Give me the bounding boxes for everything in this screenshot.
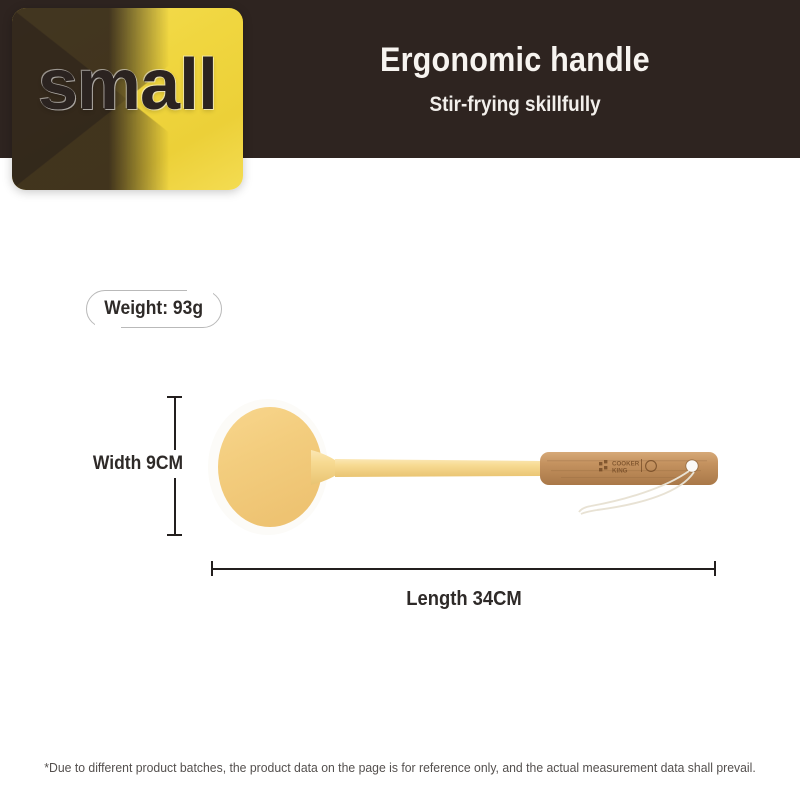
spatula-head bbox=[218, 407, 322, 527]
product-image: COOKER KING bbox=[195, 380, 735, 555]
product-spec-infographic: Ergonomic handle Stir-frying skillfully … bbox=[0, 0, 800, 800]
weight-badge: Weight: 93g bbox=[86, 290, 222, 328]
page-subtitle: Stir-frying skillfully bbox=[429, 93, 600, 116]
disclaimer-text: *Due to different product batches, the p… bbox=[24, 760, 776, 775]
length-line bbox=[212, 568, 716, 570]
length-cap-end bbox=[714, 561, 716, 576]
spatula-shaft bbox=[335, 459, 543, 477]
page-title: Ergonomic handle bbox=[380, 42, 650, 79]
weight-badge-label: Weight: 93g bbox=[105, 298, 204, 320]
length-dimension-label: Length 34CM bbox=[228, 588, 699, 611]
width-cap-bottom bbox=[167, 534, 182, 536]
header-text-block: Ergonomic handle Stir-frying skillfully bbox=[270, 0, 760, 158]
svg-text:COOKER: COOKER bbox=[612, 461, 640, 468]
width-dimension-label: Width 9CM bbox=[90, 450, 186, 478]
size-badge-label: small bbox=[12, 8, 243, 190]
size-badge: small bbox=[12, 8, 243, 190]
svg-text:KING: KING bbox=[612, 468, 628, 475]
length-dimension-line bbox=[208, 560, 720, 578]
